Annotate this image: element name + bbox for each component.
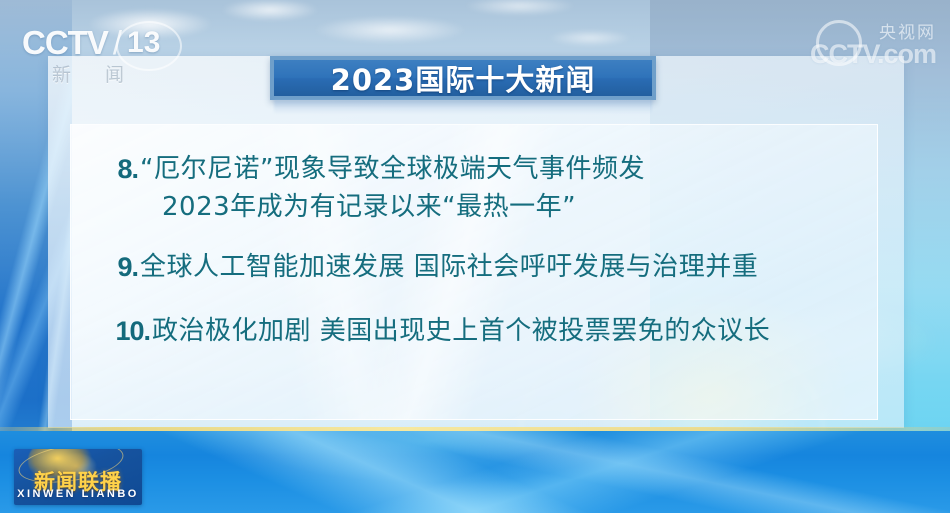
list-item-number: 10. (96, 312, 152, 350)
list-item-line: 2023年成为有记录以来“最热一年” (140, 188, 852, 226)
list-item-body: 政治极化加剧 美国出现史上首个被投票罢免的众议长 (152, 312, 852, 350)
list-item-number: 9. (96, 248, 140, 286)
cctv-channel-number: 13 (127, 26, 160, 60)
list-item-line: 政治极化加剧 美国出现史上首个被投票罢免的众议长 (152, 312, 852, 350)
list-item-body: 全球人工智能加速发展 国际社会呼吁发展与治理并重 (140, 248, 852, 286)
program-name-en: XINWEN LIANBO (14, 488, 142, 500)
news-list: 8. “厄尔尼诺”现象导致全球极端天气事件频发 2023年成为有记录以来“最热一… (70, 124, 878, 420)
cctv-slash-icon: / (113, 24, 122, 62)
broadcast-screen: CCTV / 13 新 闻 央视网 CCTV.com 2023国际十大新闻 8.… (0, 0, 950, 513)
cctv-wordmark: CCTV (22, 24, 108, 62)
list-item-body: “厄尔尼诺”现象导致全球极端天气事件频发 2023年成为有记录以来“最热一年” (140, 150, 852, 226)
list-item-line: “厄尔尼诺”现象导致全球极端天气事件频发 (140, 150, 852, 188)
list-item-line: 全球人工智能加速发展 国际社会呼吁发展与治理并重 (140, 248, 852, 286)
cctv-subtitle: 新 闻 (52, 60, 138, 87)
list-item: 8. “厄尔尼诺”现象导致全球极端天气事件频发 2023年成为有记录以来“最热一… (96, 150, 852, 226)
list-item: 10. 政治极化加剧 美国出现史上首个被投票罢免的众议长 (96, 312, 852, 350)
cctv13-logo: CCTV / 13 (22, 24, 160, 62)
bottom-blue-band (0, 431, 950, 513)
xinwen-lianbo-logo: 新闻联播 XINWEN LIANBO (14, 449, 142, 505)
page-title-banner: 2023国际十大新闻 (270, 56, 656, 100)
list-item-number: 8. (96, 150, 140, 188)
page-title: 2023国际十大新闻 (331, 57, 596, 99)
list-item: 9. 全球人工智能加速发展 国际社会呼吁发展与治理并重 (96, 248, 852, 286)
